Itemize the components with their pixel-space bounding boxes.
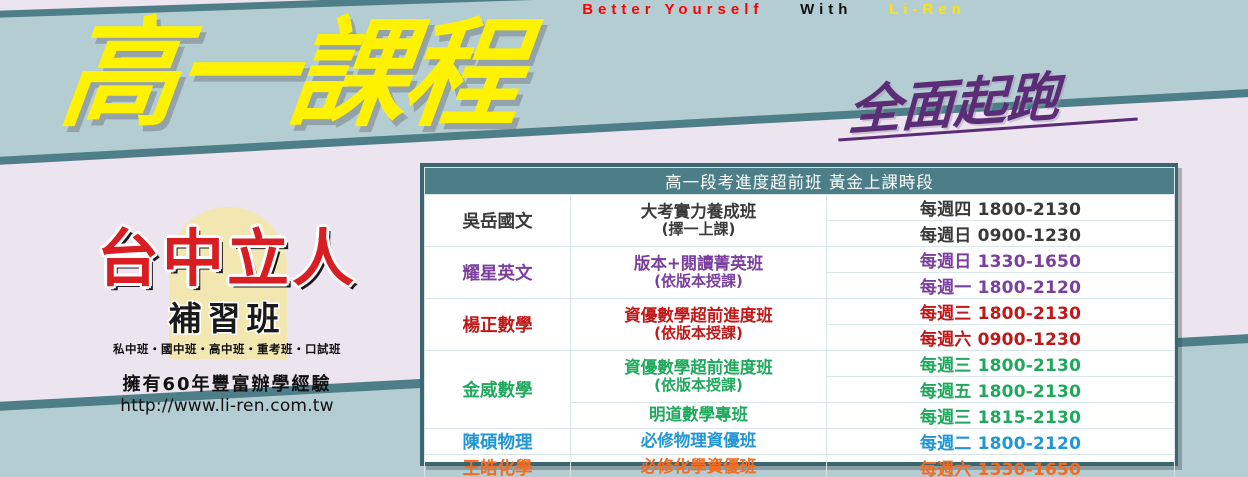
table-row[interactable]: 吳岳國文 大考實力養成班 (擇一上課) 每週四 1800-2130 [425, 195, 1175, 221]
schedule-table-body: 吳岳國文 大考實力養成班 (擇一上課) 每週四 1800-2130 每週日 09… [425, 195, 1175, 477]
cell-course: 資優數學超前進度班 (依版本授課) [571, 351, 827, 403]
cell-teacher: 楊正數學 [425, 299, 571, 351]
cell-time: 每週三 1800-2130 [827, 299, 1175, 325]
logo-experience: 擁有60年豐富辦學經驗 [52, 370, 402, 396]
cell-time: 每週四 1800-2130 [827, 195, 1175, 221]
cell-teacher: 陳碩物理 [425, 429, 571, 455]
cell-course-name: 資優數學超前進度班 [624, 358, 773, 377]
table-row[interactable]: 金威數學 資優數學超前進度班 (依版本授課) 每週三 1800-2130 [425, 351, 1175, 377]
cell-time: 每週二 1800-2120 [827, 429, 1175, 455]
cell-time: 每週日 0900-1230 [827, 221, 1175, 247]
cell-time: 每週三 1800-2130 [827, 351, 1175, 377]
cell-teacher: 耀星英文 [425, 247, 571, 299]
schedule-table: 高一段考進度超前班 黃金上課時段 吳岳國文 大考實力養成班 (擇一上課) 每週四… [424, 167, 1175, 477]
tagline-part-1: Better Yourself [582, 1, 763, 18]
cell-teacher: 金威數學 [425, 351, 571, 429]
table-row[interactable]: 耀星英文 版本+閱讀菁英班 (依版本授課) 每週日 1330-1650 [425, 247, 1175, 273]
page-title: 高一課程 [54, 8, 526, 140]
cell-time: 每週六 0900-1230 [827, 325, 1175, 351]
cell-course: 版本+閱讀菁英班 (依版本授課) [571, 247, 827, 299]
schedule-table-title: 高一段考進度超前班 黃金上課時段 [425, 168, 1175, 195]
logo-class-list: 私中班・國中班・高中班・重考班・口試班 [52, 341, 402, 357]
schedule-table-container: 高一段考進度超前班 黃金上課時段 吳岳國文 大考實力養成班 (擇一上課) 每週四… [420, 163, 1178, 466]
table-row[interactable]: 陳碩物理 必修物理資優班 每週二 1800-2120 [425, 429, 1175, 455]
cell-time: 每週五 1800-2130 [827, 377, 1175, 403]
cell-course-note: (擇一上課) [571, 221, 826, 238]
schedule-table-header-row: 高一段考進度超前班 黃金上課時段 [425, 168, 1175, 195]
cell-course-name: 大考實力養成班 [641, 202, 757, 221]
cell-time: 每週一 1800-2120 [827, 273, 1175, 299]
logo-website-url[interactable]: http://www.li-ren.com.tw [52, 396, 402, 416]
cell-course: 必修化學資優班 [571, 455, 827, 477]
cell-course: 必修物理資優班 [571, 429, 827, 455]
poster-canvas: Better Yourself With Li-Ren 高一課程 全面起跑 台中… [0, 0, 1248, 477]
logo-kind: 補習班 [52, 292, 402, 340]
cell-course: 資優數學超前進度班 (依版本授課) [571, 299, 827, 351]
cell-teacher: 吳岳國文 [425, 195, 571, 247]
table-row[interactable]: 楊正數學 資優數學超前進度班 (依版本授課) 每週三 1800-2130 [425, 299, 1175, 325]
cell-teacher: 王皓化學 [425, 455, 571, 477]
tagline-part-2: With [800, 1, 852, 18]
cell-time: 每週日 1330-1650 [827, 247, 1175, 273]
cell-course-note: (依版本授課) [571, 325, 826, 342]
logo-name: 台中立人 [52, 223, 402, 294]
cell-time: 每週三 1815-2130 [827, 403, 1175, 429]
cell-course-name: 版本+閱讀菁英班 [634, 254, 763, 273]
table-row[interactable]: 王皓化學 必修化學資優班 每週六 1330-1650 [425, 455, 1175, 477]
brand-logo: 台中立人 補習班 私中班・國中班・高中班・重考班・口試班 擁有60年豐富辦學經驗… [52, 205, 402, 420]
cell-course: 明道數學專班 [571, 403, 827, 429]
tagline-part-3: Li-Ren [889, 1, 966, 18]
cell-course-note: (依版本授課) [571, 377, 826, 394]
cell-course: 大考實力養成班 (擇一上課) [571, 195, 827, 247]
cell-course-name: 資優數學超前進度班 [624, 306, 773, 325]
cell-course-note: (依版本授課) [571, 273, 826, 290]
cell-time: 每週六 1330-1650 [827, 455, 1175, 477]
